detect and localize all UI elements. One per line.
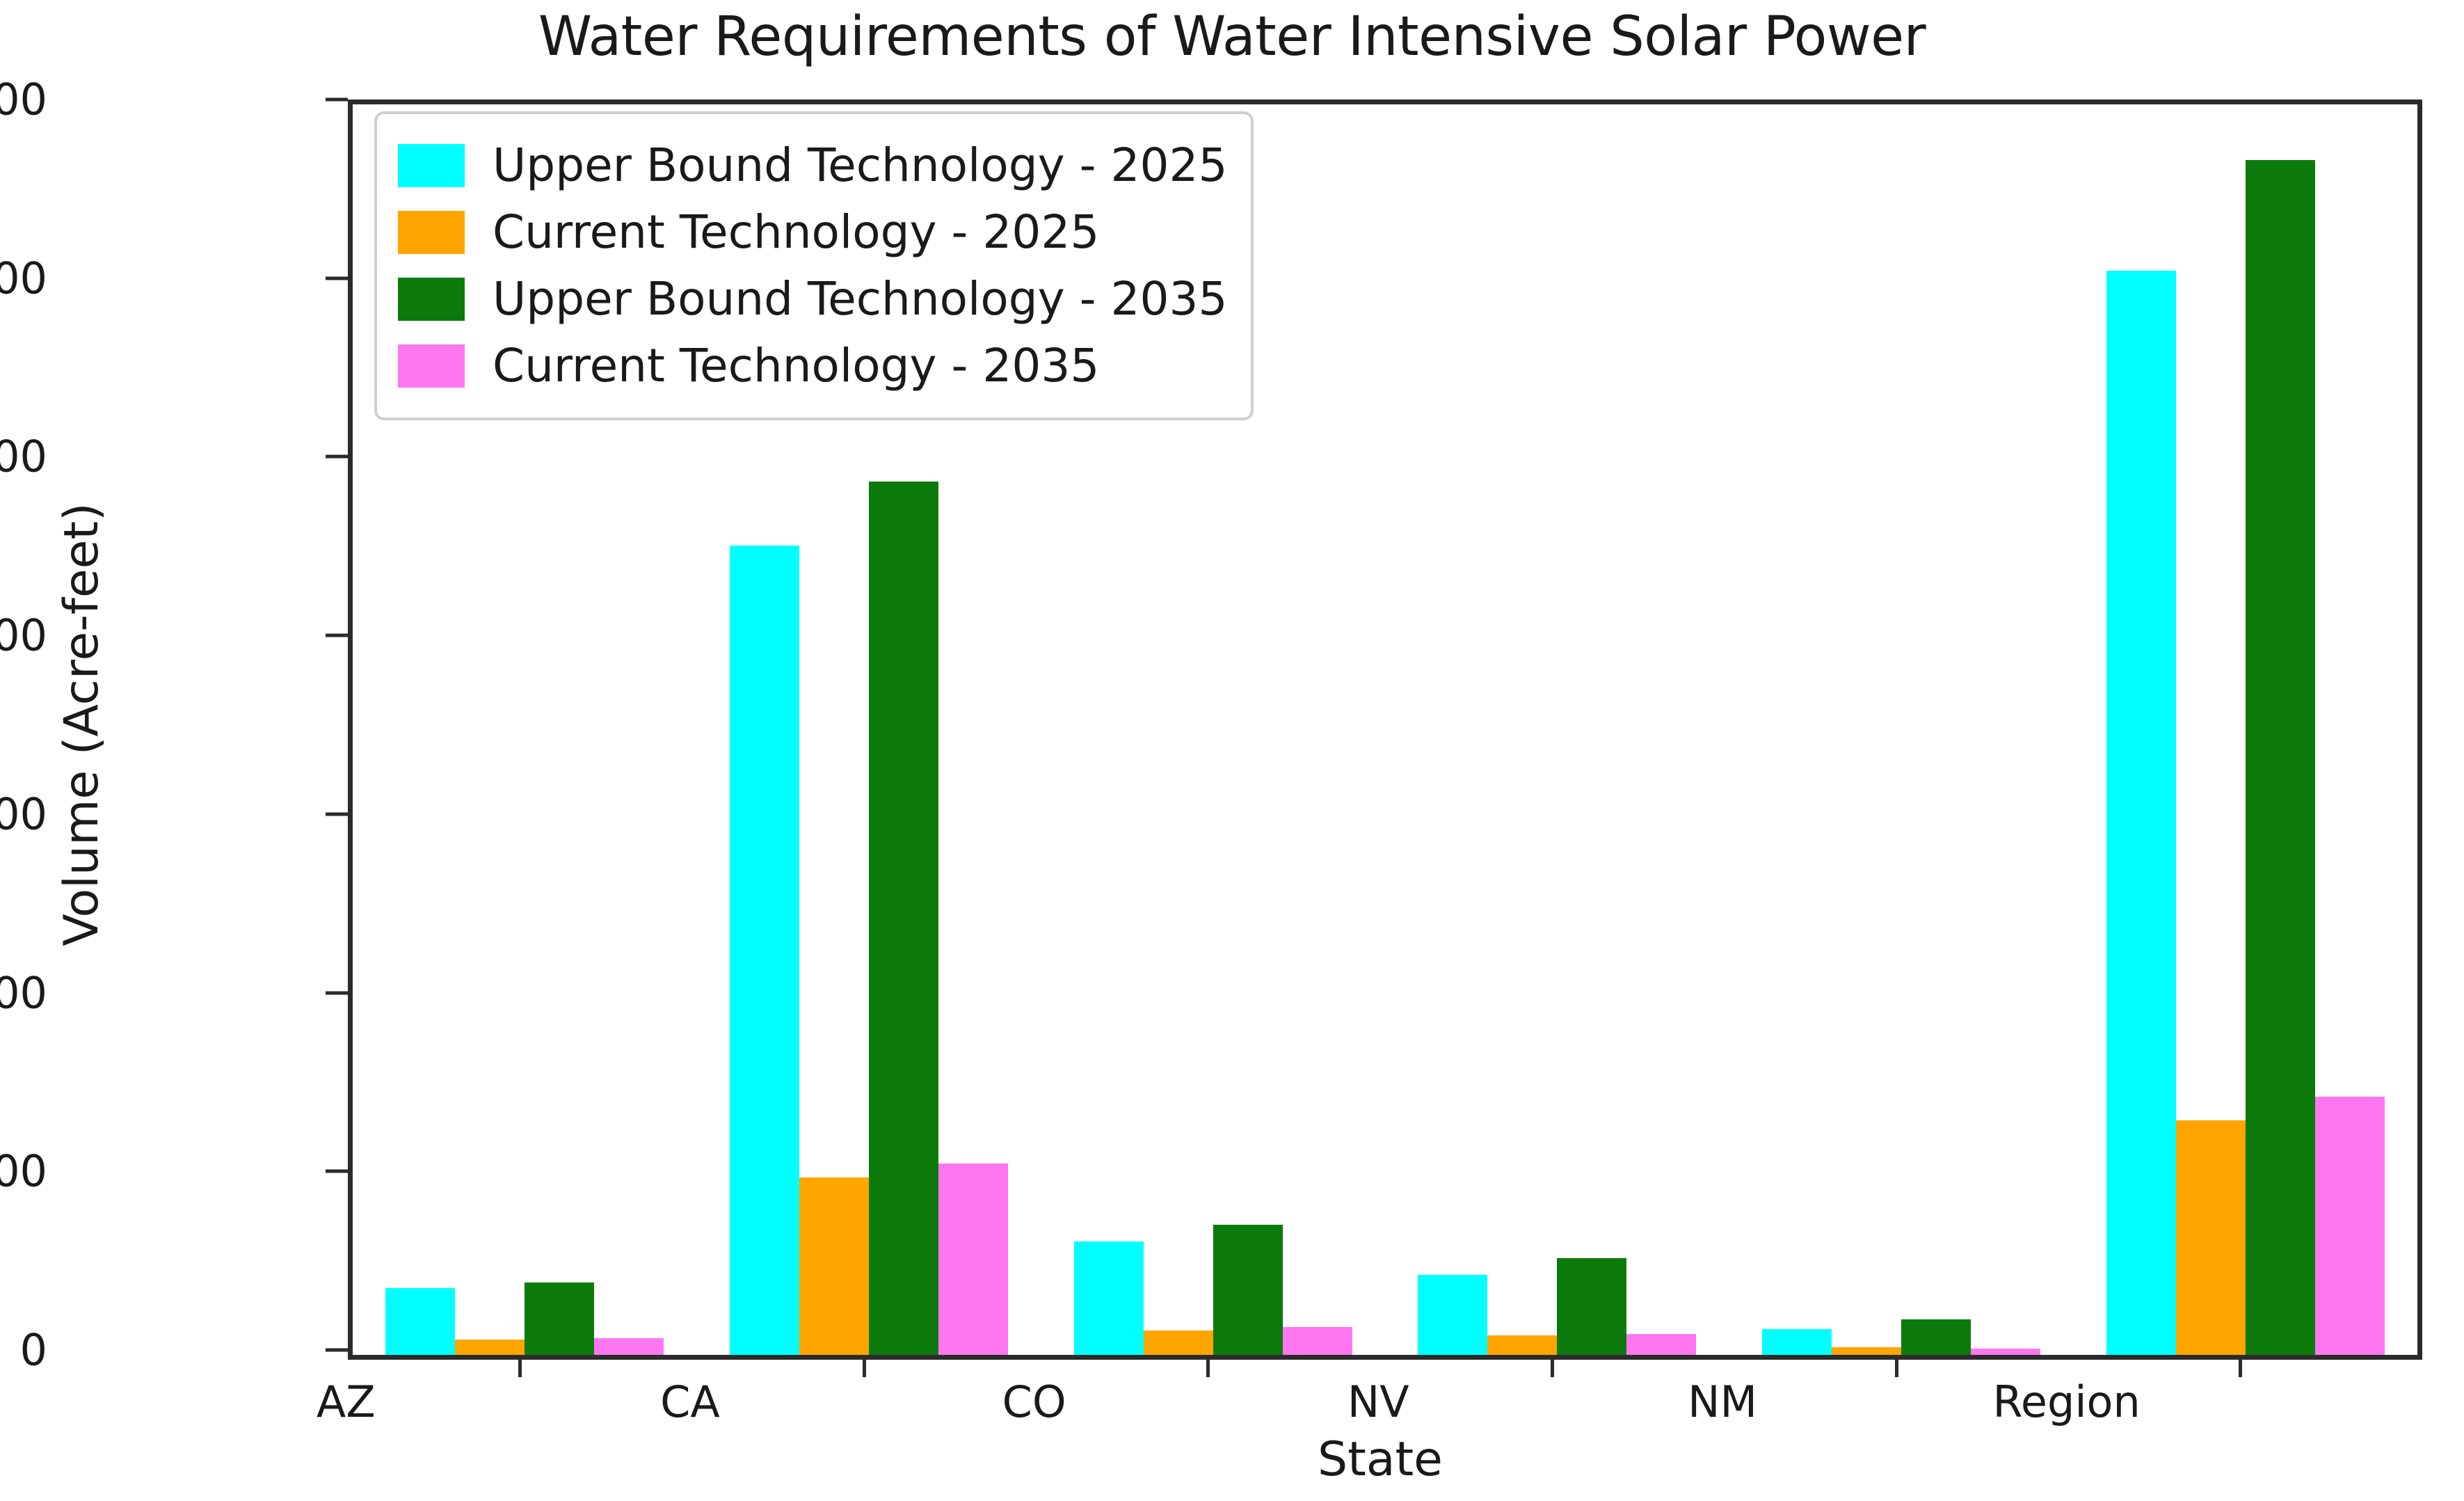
bar-nm-series-2 [1901,1319,1971,1355]
bar-co-series-1 [1144,1331,1213,1355]
bar-nm-series-3 [1971,1349,2040,1355]
y-tick-mark [326,991,348,994]
y-tick-mark [326,276,348,280]
x-axis-label: State [348,1432,2413,1487]
chart-figure: Water Requirements of Water Intensive So… [0,0,2464,1501]
bar-ca-series-1 [799,1177,869,1355]
bar-co-series-2 [1213,1225,1283,1355]
bar-nv-series-0 [1418,1275,1487,1355]
bar-az-series-0 [385,1288,455,1355]
legend-label: Upper Bound Technology - 2035 [493,276,1227,322]
bar-region-series-0 [2106,271,2176,1355]
legend-label: Current Technology - 2035 [493,343,1099,389]
legend-item-0[interactable]: Upper Bound Technology - 2025 [398,132,1227,199]
y-tick-mark [326,455,348,459]
bar-group-nv [1418,104,1696,1355]
bar-co-series-3 [1283,1327,1352,1355]
bar-nv-series-2 [1557,1258,1626,1355]
bar-nm-series-0 [1762,1329,1832,1355]
y-tick-label: 50000 [0,1146,47,1197]
legend-label: Current Technology - 2025 [493,209,1099,255]
x-tick-label-nv: NV [1204,1376,1552,1427]
x-tick-label-region: Region [1893,1376,2241,1427]
legend-item-1[interactable]: Current Technology - 2025 [398,199,1227,266]
legend-swatch-icon [398,211,465,254]
bar-nm-series-1 [1832,1347,1901,1355]
y-tick-mark [326,812,348,816]
y-tick-mark [326,1349,348,1352]
y-tick-mark [326,1170,348,1173]
x-tick-label-co: CO [861,1376,1208,1427]
y-tick-label: 100000 [0,967,47,1018]
y-tick-label: 350000 [0,74,47,125]
legend-swatch-icon [398,344,465,388]
legend-label: Upper Bound Technology - 2025 [493,143,1227,189]
y-tick-mark [326,634,348,637]
chart-title: Water Requirements of Water Intensive So… [0,6,2464,68]
bar-ca-series-2 [869,482,938,1355]
y-tick-label: 250000 [0,431,47,482]
bar-region-series-1 [2176,1120,2246,1355]
bar-region-series-3 [2315,1097,2385,1355]
bar-nv-series-3 [1626,1334,1696,1355]
y-tick-label: 150000 [0,788,47,839]
bar-group-nm [1762,104,2040,1355]
bar-az-series-2 [525,1282,594,1355]
y-tick-label: 200000 [0,610,47,661]
legend-item-3[interactable]: Current Technology - 2035 [398,333,1227,399]
bar-co-series-0 [1074,1241,1144,1355]
bar-ca-series-3 [938,1164,1008,1355]
bar-region-series-2 [2246,160,2315,1355]
x-tick-label-ca: CA [516,1376,864,1427]
bar-az-series-1 [455,1340,525,1355]
bar-ca-series-0 [730,546,799,1355]
x-tick-label-az: AZ [172,1376,520,1427]
y-axis-label: Volume (Acre-feet) [54,307,109,1142]
legend-swatch-icon [398,278,465,321]
chart-legend: Upper Bound Technology - 2025Current Tec… [374,111,1254,420]
y-tick-label: 300000 [0,253,47,303]
bar-group-region [2106,104,2385,1355]
legend-swatch-icon [398,144,465,187]
y-tick-label: 0 [0,1325,47,1376]
bar-az-series-3 [594,1338,664,1355]
x-tick-label-nm: NM [1549,1376,1896,1427]
y-tick-mark [326,98,348,102]
bar-nv-series-1 [1487,1335,1557,1355]
legend-item-2[interactable]: Upper Bound Technology - 2035 [398,266,1227,333]
